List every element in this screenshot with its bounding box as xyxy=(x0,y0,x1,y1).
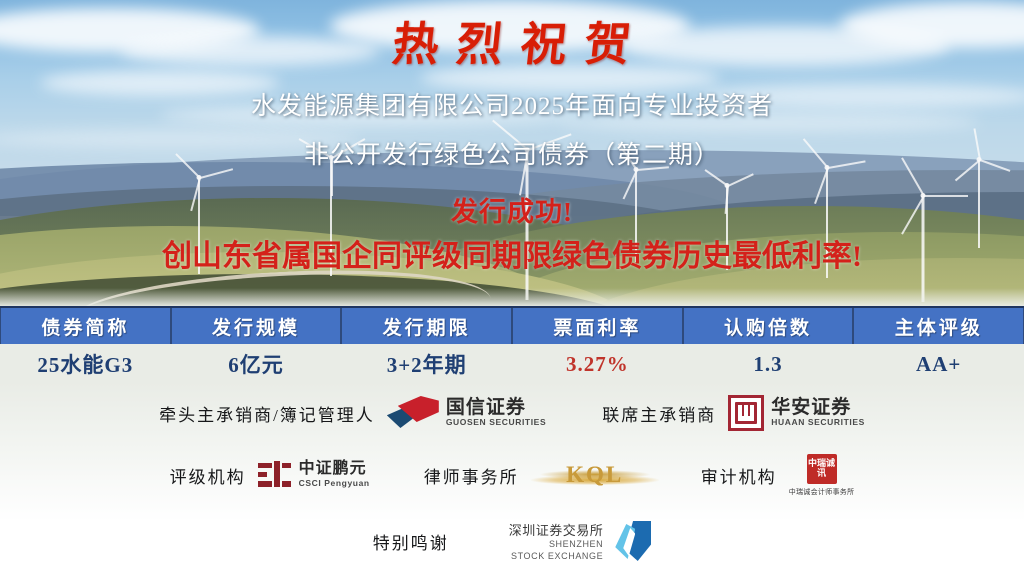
partner-row-special-thanks: 特别鸣谢 深圳证券交易所 SHENZHEN STOCK EXCHANGE xyxy=(0,506,1024,576)
partner-row-underwriters: 牵头主承销商/簿记管理人 国信证券 GUOSEN SECURITIES 联席主承… xyxy=(0,382,1024,444)
audit-agency-item: 审计机构 中瑞诚讯 中瑞诚会计师事务所 xyxy=(701,454,855,497)
photo-bottom-fade xyxy=(0,288,1024,306)
partners-section: 牵头主承销商/簿记管理人 国信证券 GUOSEN SECURITIES 联席主承… xyxy=(0,382,1024,576)
szse-mark-icon xyxy=(611,521,651,561)
joint-underwriter-label: 联席主承销商 xyxy=(602,401,716,426)
huaan-seal-icon xyxy=(728,395,764,431)
kql-mark-icon: KQL xyxy=(531,458,659,492)
audit-agency-label: 审计机构 xyxy=(701,463,777,488)
issuer-subtitle-line2: 非公开发行绿色公司债券（第二期） xyxy=(0,135,1024,171)
guosen-securities-logo: 国信证券 GUOSEN SECURITIES xyxy=(387,396,546,430)
table-cell-bond-name: 25水能G3 xyxy=(0,344,171,384)
table-header-cell: 债券简称 xyxy=(1,308,170,344)
lead-underwriter-label: 牵头主承销商/簿记管理人 xyxy=(159,401,375,426)
csci-mark-icon xyxy=(258,461,292,489)
csci-pengyuan-logo: 中证鹏元 CSCI Pengyuan xyxy=(258,461,370,489)
huaan-logo-en: HUAAN SECURITIES xyxy=(771,417,865,428)
kql-law-firm-logo: KQL xyxy=(531,458,659,492)
record-lowest-rate-text: 创山东省属国企同评级同期限绿色债券历史最低利率! xyxy=(0,231,1024,275)
congratulations-poster: 热烈祝贺 水发能源集团有限公司2025年面向专业投资者 非公开发行绿色公司债券（… xyxy=(0,0,1024,576)
guosen-logo-cn: 国信证券 xyxy=(446,398,546,418)
table-header-row: 债券简称 发行规模 发行期限 票面利率 认购倍数 主体评级 xyxy=(0,306,1024,344)
table-cell-issuer-rating: AA+ xyxy=(853,344,1024,384)
kql-logo-text: KQL xyxy=(566,462,623,488)
law-firm-item: 律师事务所 KQL xyxy=(424,458,659,492)
issuance-success-text: 发行成功! xyxy=(0,190,1024,229)
huaan-securities-logo: 华安证券 HUAAN SECURITIES xyxy=(728,395,865,431)
rating-agency-item: 评级机构 中证鹏元 CSCI Pengyuan xyxy=(170,461,370,489)
table-header-cell: 认购倍数 xyxy=(684,308,853,344)
huaan-logo-cn: 华安证券 xyxy=(771,398,865,418)
table-value-row: 25水能G3 6亿元 3+2年期 3.27% 1.3 AA+ xyxy=(0,344,1024,384)
table-cell-subscription-multiple: 1.3 xyxy=(683,344,854,384)
zhongruicheng-caption: 中瑞诚会计师事务所 xyxy=(789,487,855,497)
table-header-cell: 主体评级 xyxy=(854,308,1023,344)
bond-summary-table: 债券简称 发行规模 发行期限 票面利率 认购倍数 主体评级 25水能G3 6亿元… xyxy=(0,306,1024,384)
zhongruicheng-cpa-logo: 中瑞诚讯 中瑞诚会计师事务所 xyxy=(789,454,855,497)
csci-logo-cn: 中证鹏元 xyxy=(299,461,370,478)
table-header-cell: 票面利率 xyxy=(513,308,682,344)
congratulations-title: 热烈祝贺 xyxy=(0,8,1024,74)
special-thanks-item: 特别鸣谢 深圳证券交易所 SHENZHEN STOCK EXCHANGE xyxy=(373,520,652,562)
table-cell-coupon-rate: 3.27% xyxy=(512,344,683,384)
turbine-hub xyxy=(725,183,730,188)
szse-logo-en-line1: SHENZHEN xyxy=(509,539,604,550)
partner-row-agencies: 评级机构 中证鹏元 CSCI Pengyuan 律师事务所 xyxy=(0,444,1024,506)
table-header-cell: 发行规模 xyxy=(172,308,341,344)
issuer-subtitle-line1: 水发能源集团有限公司2025年面向专业投资者 xyxy=(0,86,1024,122)
zhongruicheng-seal-text: 中瑞诚讯 xyxy=(807,454,837,484)
turbine-hub xyxy=(197,175,202,180)
csci-logo-en: CSCI Pengyuan xyxy=(299,478,370,489)
rating-agency-label: 评级机构 xyxy=(170,463,246,488)
joint-underwriter-item: 联席主承销商 华安证券 HUAAN SECURITIES xyxy=(602,395,865,431)
special-thanks-label: 特别鸣谢 xyxy=(373,529,449,554)
lead-underwriter-item: 牵头主承销商/簿记管理人 国信证券 GUOSEN SECURITIES xyxy=(159,396,546,430)
shenzhen-stock-exchange-logo: 深圳证券交易所 SHENZHEN STOCK EXCHANGE xyxy=(509,520,652,562)
table-cell-issue-size: 6亿元 xyxy=(171,344,342,384)
table-header-cell: 发行期限 xyxy=(342,308,511,344)
guosen-mark-icon xyxy=(387,396,439,430)
table-cell-tenor: 3+2年期 xyxy=(341,344,512,384)
law-firm-label: 律师事务所 xyxy=(424,463,519,488)
zhongruicheng-mark-icon: 中瑞诚讯 中瑞诚会计师事务所 xyxy=(789,454,855,497)
szse-logo-en-line2: STOCK EXCHANGE xyxy=(509,551,604,562)
szse-logo-cn: 深圳证券交易所 xyxy=(509,520,604,539)
guosen-logo-en: GUOSEN SECURITIES xyxy=(446,417,546,428)
